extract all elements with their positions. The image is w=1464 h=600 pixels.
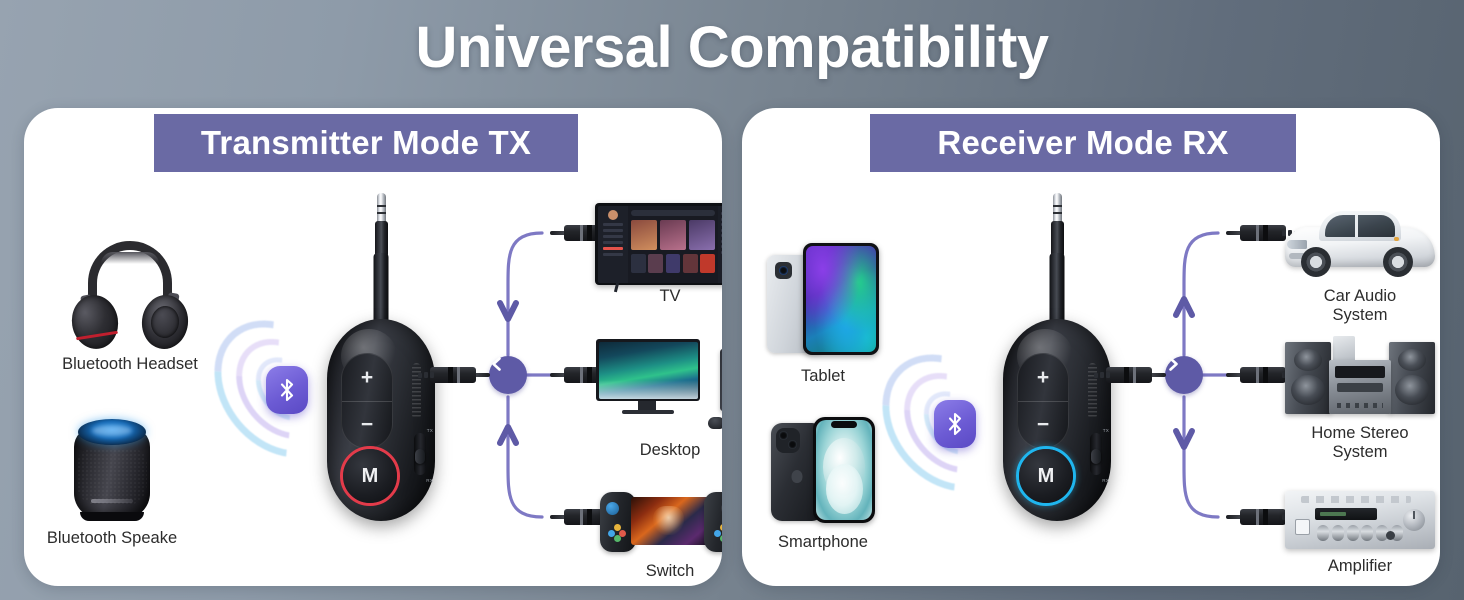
sink-car-audio-system: Car Audio System (1270, 203, 1440, 325)
device-body: + − TX RX M (1003, 319, 1111, 521)
bluetooth-icon (934, 400, 976, 448)
panel-header-tx: Transmitter Mode TX (154, 114, 578, 172)
sink-label-amplifier: Amplifier (1270, 557, 1440, 576)
desktop-computer-icon (580, 341, 722, 437)
switch-label-rx: RX (426, 478, 433, 483)
tx-rx-mode-switch[interactable] (1090, 433, 1102, 475)
sink-tv: TV (580, 203, 722, 306)
panel-transmitter-mode: Transmitter Mode TX Bluetooth Headset (24, 108, 722, 586)
handheld-console-icon (580, 488, 722, 558)
tablet-icon (742, 243, 908, 363)
signal-direction-hub-tx (489, 356, 527, 394)
infographic-canvas: Universal Compatibility Transmitter Mode… (0, 0, 1464, 600)
volume-buttons[interactable]: + − (341, 353, 393, 449)
car-icon (1270, 203, 1440, 283)
bluetooth-icon (266, 366, 308, 414)
aux-jack-icon (375, 193, 388, 255)
mode-button[interactable]: M (343, 449, 397, 503)
headphones-icon (45, 239, 215, 351)
sink-label-tv: TV (580, 287, 722, 306)
sink-home-stereo-system: Home Stereo System (1270, 336, 1440, 462)
switch-label-tx: TX (427, 428, 433, 433)
chevron-right-icon (1165, 356, 1181, 372)
volume-down-button[interactable]: − (342, 402, 392, 449)
source-label-smartphone: Smartphone (742, 533, 908, 552)
smart-speaker-icon (27, 413, 197, 525)
device-body: + − TX RX M (327, 319, 435, 521)
panel-header-tx-label: Transmitter Mode TX (201, 124, 531, 162)
volume-down-button[interactable]: − (1018, 402, 1068, 449)
switch-label-rx: RX (1102, 478, 1109, 483)
source-bluetooth-speaker: Bluetooth Speake (27, 413, 197, 548)
aux-plug-icon (1092, 367, 1166, 383)
panel-header-rx: Receiver Mode RX (870, 114, 1296, 172)
sink-amplifier: Amplifier (1270, 483, 1440, 576)
source-label-speaker: Bluetooth Speake (27, 529, 197, 548)
sink-label-switch: Switch (580, 562, 722, 581)
source-bluetooth-headset: Bluetooth Headset (45, 239, 215, 374)
chevron-left-icon (489, 356, 505, 372)
volume-up-button[interactable]: + (1018, 354, 1068, 402)
volume-buttons[interactable]: + − (1017, 353, 1069, 449)
signal-direction-hub-rx (1165, 356, 1203, 394)
stereo-system-icon (1270, 336, 1440, 420)
sink-label-home-stereo: Home Stereo System (1270, 424, 1440, 462)
sink-label-car-audio: Car Audio System (1270, 287, 1440, 325)
volume-up-button[interactable]: + (342, 354, 392, 402)
switch-label-tx: TX (1103, 428, 1109, 433)
sink-switch: Switch (580, 488, 722, 581)
television-icon (580, 203, 722, 283)
page-title: Universal Compatibility (0, 14, 1464, 81)
aux-jack-icon (1051, 193, 1064, 255)
sink-label-desktop: Desktop (580, 441, 722, 460)
bluetooth-transmitter-device: + − TX RX M (321, 193, 441, 523)
source-label-headset: Bluetooth Headset (45, 355, 215, 374)
panel-receiver-mode: Receiver Mode RX Tablet Smartphone (742, 108, 1440, 586)
source-tablet: Tablet (742, 243, 908, 386)
device-stem (1050, 253, 1065, 327)
tx-rx-mode-switch[interactable] (414, 433, 426, 475)
mode-button[interactable]: M (1019, 449, 1073, 503)
device-stem (374, 253, 389, 327)
sink-desktop: Desktop (580, 341, 722, 460)
panel-header-rx-label: Receiver Mode RX (937, 124, 1228, 162)
aux-plug-icon (416, 367, 490, 383)
amplifier-icon (1270, 483, 1440, 553)
source-smartphone: Smartphone (742, 413, 908, 552)
bluetooth-receiver-device: + − TX RX M (997, 193, 1117, 523)
source-label-tablet: Tablet (742, 367, 908, 386)
smartphone-icon (742, 413, 908, 529)
